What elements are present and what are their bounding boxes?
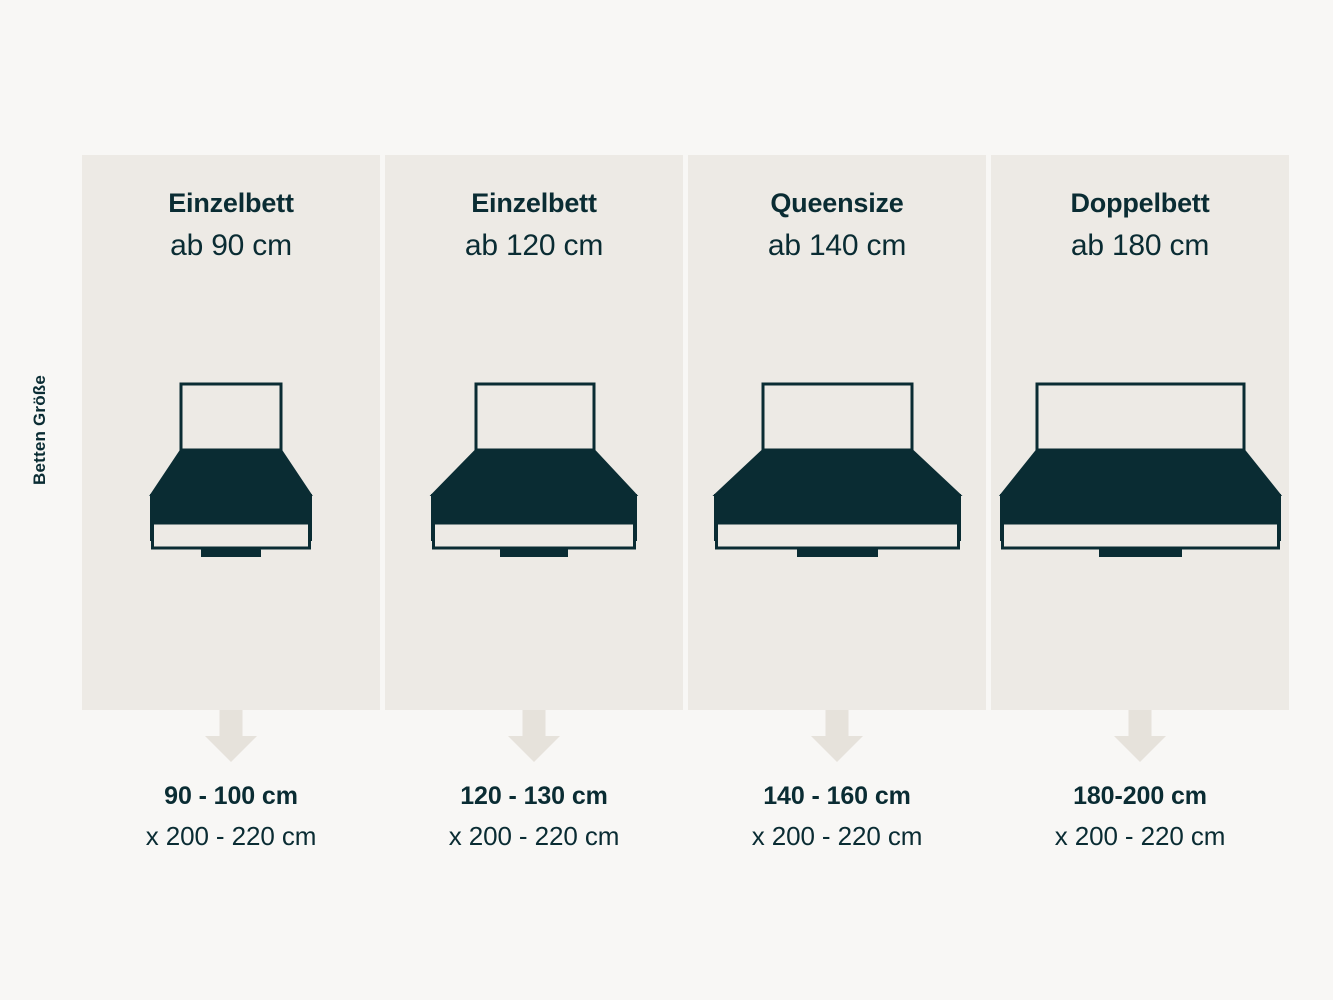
arrow-down-icon-4 (1114, 710, 1166, 762)
dimension-length-2: x 200 - 220 cm (385, 819, 683, 854)
dimension-caption-1: 90 - 100 cm x 200 - 220 cm (82, 780, 380, 854)
dimension-caption-2: 120 - 130 cm x 200 - 220 cm (385, 780, 683, 854)
arrow-down-icon-1 (205, 710, 257, 762)
dimension-length-4: x 200 - 220 cm (991, 819, 1289, 854)
bed-single-wide-icon (385, 360, 683, 560)
bed-single-icon (82, 360, 380, 560)
bed-double-icon (991, 360, 1289, 560)
dimension-width-2: 120 - 130 cm (385, 780, 683, 813)
bed-size-columns: Einzelbett ab 90 cm (82, 155, 1289, 1000)
axis-label-text: Betten Größe (30, 375, 50, 485)
axis-label-betten-groesse: Betten Größe (0, 330, 80, 530)
dimension-length-3: x 200 - 220 cm (688, 819, 986, 854)
bed-min-width-1: ab 90 cm (82, 226, 380, 267)
bed-sizes-infographic: Betten Größe Einzelbett ab 90 cm (0, 0, 1333, 1000)
bed-min-width-4: ab 180 cm (991, 226, 1289, 267)
dimension-caption-4: 180-200 cm x 200 - 220 cm (991, 780, 1289, 854)
arrow-down-icon-2 (508, 710, 560, 762)
panel-header-4: Doppelbett ab 180 cm (991, 187, 1289, 266)
bed-type-title-3: Queensize (688, 187, 986, 221)
bed-type-title-4: Doppelbett (991, 187, 1289, 221)
panel-header-2: Einzelbett ab 120 cm (385, 187, 683, 266)
panel-header-3: Queensize ab 140 cm (688, 187, 986, 266)
dimension-width-1: 90 - 100 cm (82, 780, 380, 813)
bed-min-width-2: ab 120 cm (385, 226, 683, 267)
bed-size-column-1: Einzelbett ab 90 cm (82, 155, 380, 1000)
panel-header-1: Einzelbett ab 90 cm (82, 187, 380, 266)
bed-size-column-3: Queensize ab 140 cm 140 - 160 cm (688, 155, 986, 1000)
dimension-length-1: x 200 - 220 cm (82, 819, 380, 854)
dimension-caption-3: 140 - 160 cm x 200 - 220 cm (688, 780, 986, 854)
bed-queen-icon (688, 360, 986, 560)
bed-type-title-2: Einzelbett (385, 187, 683, 221)
bed-size-column-2: Einzelbett ab 120 cm 120 - 130 cm (385, 155, 683, 1000)
bed-size-column-4: Doppelbett ab 180 cm 180-200 cm (991, 155, 1289, 1000)
bed-type-title-1: Einzelbett (82, 187, 380, 221)
bed-min-width-3: ab 140 cm (688, 226, 986, 267)
arrow-down-icon-3 (811, 710, 863, 762)
dimension-width-3: 140 - 160 cm (688, 780, 986, 813)
dimension-width-4: 180-200 cm (991, 780, 1289, 813)
